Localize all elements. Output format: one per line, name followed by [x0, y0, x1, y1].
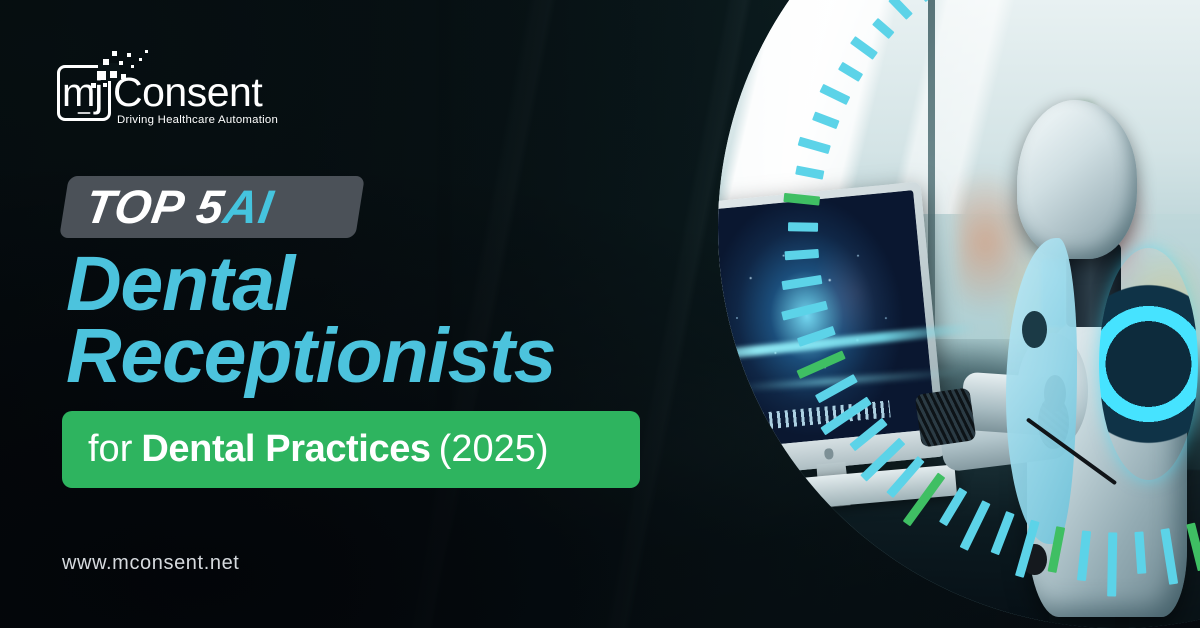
badge-prefix: TOP 5: [82, 180, 229, 233]
apple-logo-icon: [823, 448, 833, 460]
robot-receptionist-scene: [718, 0, 1200, 628]
headset-icon: [1099, 248, 1198, 480]
logo-pixel-dot: [131, 65, 134, 68]
logo-pixel-dot: [145, 50, 148, 53]
logo-pixel-dot: [139, 58, 142, 61]
page-title: Dental Receptionists: [66, 248, 706, 392]
logo-pixel-dot: [127, 53, 131, 57]
mconsent-logo[interactable]: mj Consent Driving Healthcare Automation: [57, 47, 307, 125]
top5-badge-label: TOP 5AI: [82, 182, 277, 232]
logo-pixel-dot: [119, 61, 123, 65]
robot-eye: [1022, 311, 1047, 348]
logo-wordmark: Consent: [113, 70, 262, 114]
logo-pixel-dot: [91, 83, 96, 88]
headset-mic-tip: [1022, 544, 1047, 576]
logo-pixel-dot: [103, 59, 109, 65]
logo-pixel-dot: [112, 51, 117, 56]
logo-pixel-dot: [97, 71, 106, 80]
subhead-lead: for: [88, 428, 132, 471]
headline-line-2: Receptionists: [66, 320, 706, 392]
website-url[interactable]: www.mconsent.net: [62, 552, 239, 575]
subhead-emphasis: Dental Practices: [132, 428, 438, 471]
logo-tagline: Driving Healthcare Automation: [117, 114, 278, 126]
monitor-screen: [718, 190, 935, 450]
robot-hand: [914, 387, 976, 447]
subhead-year: (2025): [439, 428, 549, 471]
humanoid-robot-icon: [956, 100, 1200, 628]
robot-head: [1017, 100, 1138, 258]
robot-face-visor: [1006, 238, 1077, 544]
logo-pixel-dot: [103, 83, 107, 87]
promo-banner: mj Consent Driving Healthcare Automation…: [0, 0, 1200, 628]
subhead-label: forDental Practices(2025): [62, 411, 640, 488]
hero-photo-circle: [718, 0, 1200, 628]
badge-highlight: AI: [220, 180, 277, 233]
